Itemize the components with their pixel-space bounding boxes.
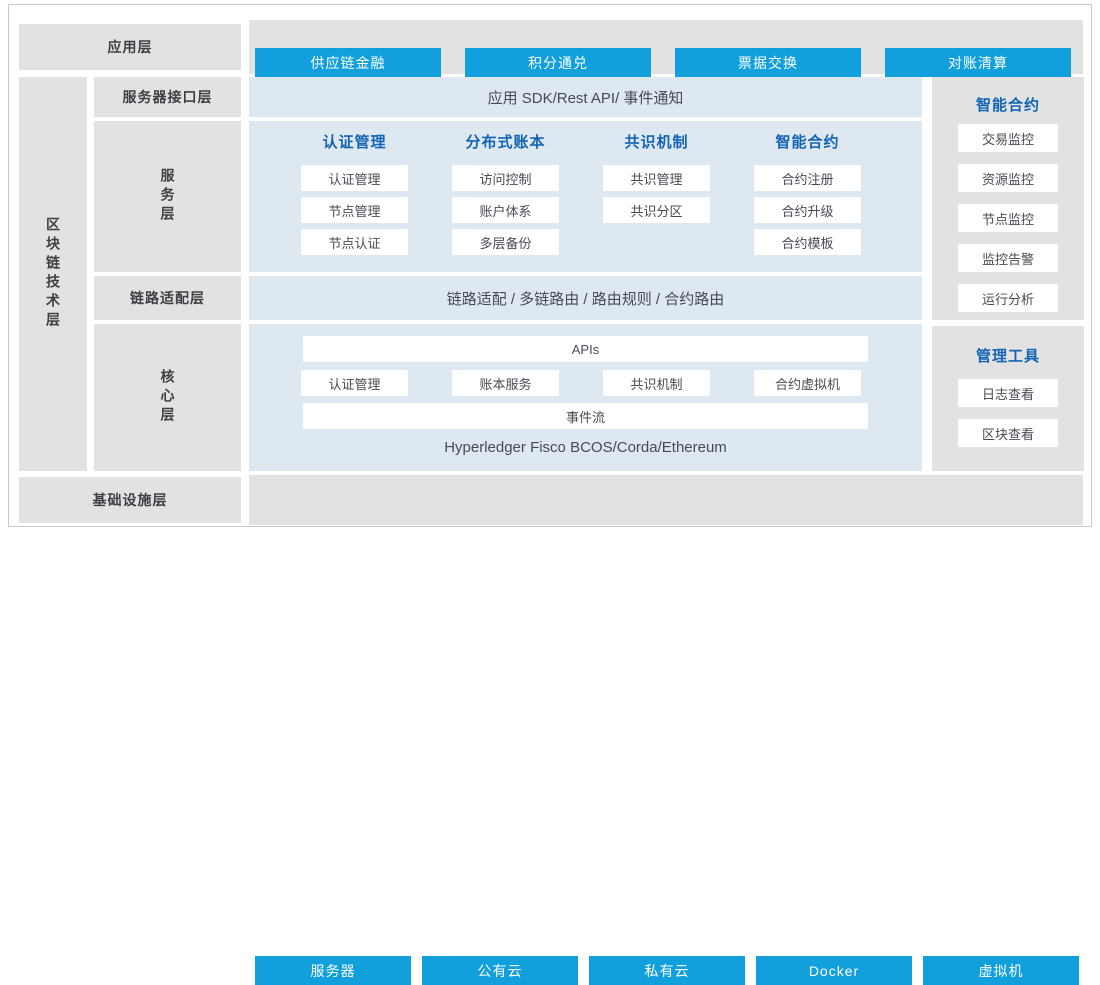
service-cell-contract-template[interactable]: 合约模板 bbox=[754, 229, 861, 255]
service-cell-access-control[interactable]: 访问控制 bbox=[452, 165, 559, 191]
core-module-auth-management[interactable]: 认证管理 bbox=[301, 370, 408, 396]
application-layer-label: 应用层 bbox=[19, 24, 241, 70]
server-interface-layer-panel: 应用 SDK/Rest API/ 事件通知 bbox=[249, 77, 922, 117]
right-panel-item-node-monitoring[interactable]: 节点监控 bbox=[958, 204, 1058, 232]
server-interface-layer-content: 应用 SDK/Rest API/ 事件通知 bbox=[488, 87, 684, 108]
infra-item-virtual-machine[interactable]: 虚拟机 bbox=[923, 956, 1079, 985]
service-column-title-distributed-ledger: 分布式账本 bbox=[452, 129, 559, 153]
right-panel-item-monitoring-alert[interactable]: 监控告警 bbox=[958, 244, 1058, 272]
service-cell-node-management[interactable]: 节点管理 bbox=[301, 197, 408, 223]
core-module-contract-vm[interactable]: 合约虚拟机 bbox=[754, 370, 861, 396]
infra-item-server[interactable]: 服务器 bbox=[255, 956, 411, 985]
application-layer-strip: 供应链金融 积分通兑 票据交换 对账清算 bbox=[249, 20, 1083, 74]
app-item-bill-exchange[interactable]: 票据交换 bbox=[675, 48, 861, 77]
service-cell-consensus-partition[interactable]: 共识分区 bbox=[603, 197, 710, 223]
core-event-stream-bar[interactable]: 事件流 bbox=[303, 403, 868, 429]
service-column-title-consensus-mechanism: 共识机制 bbox=[603, 129, 710, 153]
service-cell-consensus-management[interactable]: 共识管理 bbox=[603, 165, 710, 191]
infra-item-public-cloud[interactable]: 公有云 bbox=[422, 956, 578, 985]
app-item-reconciliation-settlement[interactable]: 对账清算 bbox=[885, 48, 1071, 77]
service-cell-auth-management[interactable]: 认证管理 bbox=[301, 165, 408, 191]
architecture-diagram: 应用层 供应链金融 积分通兑 票据交换 对账清算 区块链技术层 服务器接口层 服… bbox=[8, 4, 1092, 527]
core-layer-label: 核心层 bbox=[94, 324, 241, 471]
service-column-title-smart-contract: 智能合约 bbox=[754, 129, 861, 153]
service-column-title-auth-management: 认证管理 bbox=[301, 129, 408, 153]
right-panel-item-transaction-monitoring[interactable]: 交易监控 bbox=[958, 124, 1058, 152]
service-cell-contract-upgrade[interactable]: 合约升级 bbox=[754, 197, 861, 223]
right-panel-item-log-viewer[interactable]: 日志查看 bbox=[958, 379, 1058, 407]
service-layer-panel: 认证管理 认证管理 节点管理 节点认证 分布式账本 访问控制 账户体系 多层备份… bbox=[249, 121, 922, 272]
chain-adapter-layer-label: 链路适配层 bbox=[94, 276, 241, 320]
core-layer-panel: APIs 认证管理 账本服务 共识机制 合约虚拟机 事件流 Hyperledge… bbox=[249, 324, 922, 471]
blockchain-tech-layer-label: 区块链技术层 bbox=[19, 77, 87, 471]
right-panel-smart-contract: 智能合约 交易监控 资源监控 节点监控 监控告警 运行分析 bbox=[932, 77, 1084, 320]
right-panel-title-management-tools: 管理工具 bbox=[932, 342, 1084, 368]
core-apis-bar[interactable]: APIs bbox=[303, 336, 868, 362]
service-cell-account-system[interactable]: 账户体系 bbox=[452, 197, 559, 223]
service-cell-contract-registration[interactable]: 合约注册 bbox=[754, 165, 861, 191]
right-panel-item-resource-monitoring[interactable]: 资源监控 bbox=[958, 164, 1058, 192]
infrastructure-layer-strip: 服务器 公有云 私有云 Docker 虚拟机 bbox=[249, 475, 1083, 525]
core-platforms-text: Hyperledger Fisco BCOS/Corda/Ethereum bbox=[249, 434, 922, 460]
service-layer-label: 服务层 bbox=[94, 121, 241, 272]
app-item-points-exchange[interactable]: 积分通兑 bbox=[465, 48, 651, 77]
chain-adapter-layer-content: 链路适配 / 多链路由 / 路由规则 / 合约路由 bbox=[447, 288, 725, 309]
app-item-supply-chain-finance[interactable]: 供应链金融 bbox=[255, 48, 441, 77]
chain-adapter-layer-panel: 链路适配 / 多链路由 / 路由规则 / 合约路由 bbox=[249, 276, 922, 320]
core-module-ledger-service[interactable]: 账本服务 bbox=[452, 370, 559, 396]
core-module-consensus-mechanism[interactable]: 共识机制 bbox=[603, 370, 710, 396]
right-panel-item-operation-analysis[interactable]: 运行分析 bbox=[958, 284, 1058, 312]
service-cell-node-auth[interactable]: 节点认证 bbox=[301, 229, 408, 255]
infra-item-private-cloud[interactable]: 私有云 bbox=[589, 956, 745, 985]
service-cell-multilayer-backup[interactable]: 多层备份 bbox=[452, 229, 559, 255]
server-interface-layer-label: 服务器接口层 bbox=[94, 77, 241, 117]
infra-item-docker[interactable]: Docker bbox=[756, 956, 912, 985]
right-panel-item-block-viewer[interactable]: 区块查看 bbox=[958, 419, 1058, 447]
right-panel-title-smart-contract: 智能合约 bbox=[932, 91, 1084, 117]
right-panel-management-tools: 管理工具 日志查看 区块查看 bbox=[932, 326, 1084, 471]
infrastructure-layer-label: 基础设施层 bbox=[19, 477, 241, 523]
